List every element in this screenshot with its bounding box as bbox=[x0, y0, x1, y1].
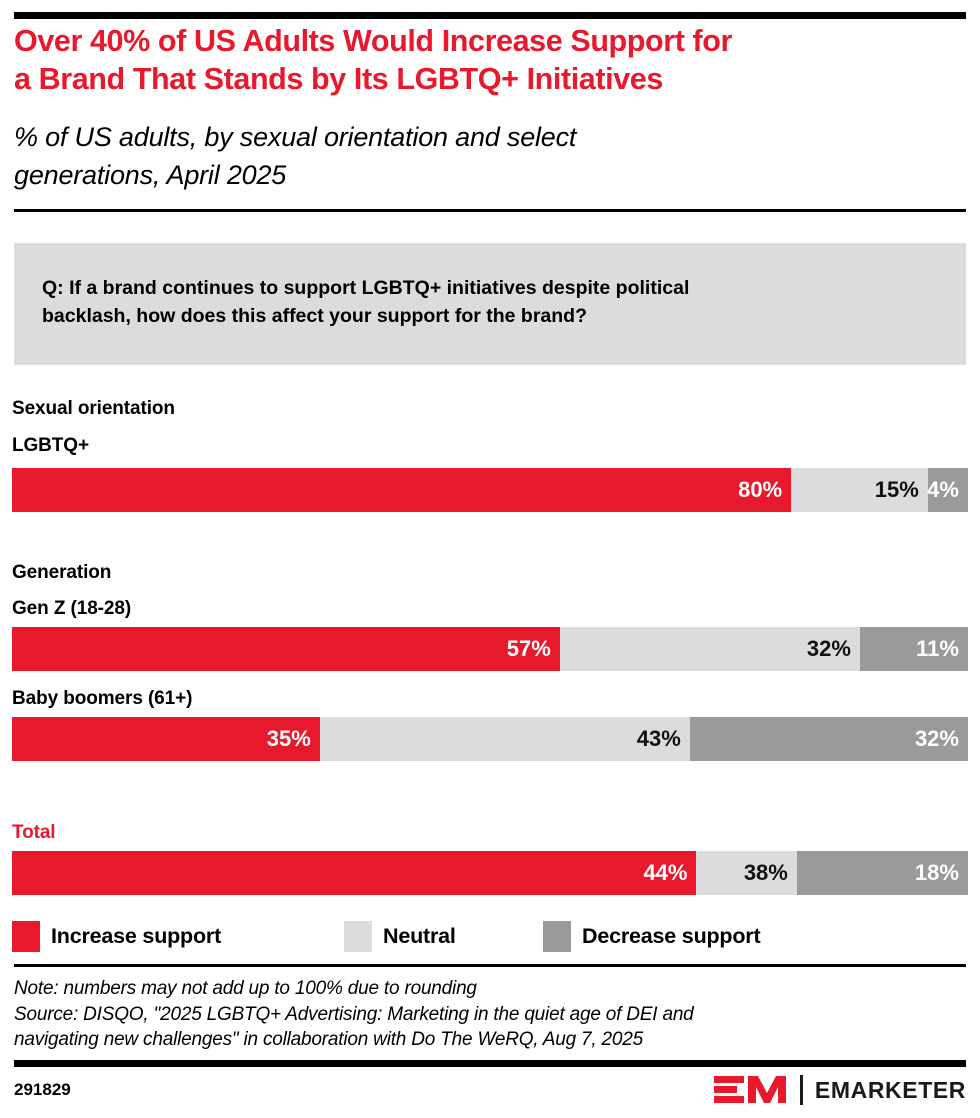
neutral-swatch-icon bbox=[344, 921, 372, 952]
bar-segment-neutral-baby-boomers: 43% bbox=[320, 717, 690, 761]
survey-question-line-1: Q: If a brand continues to support LGBTQ… bbox=[42, 277, 689, 299]
brand-name: EMARKETER bbox=[815, 1077, 966, 1104]
legend-divider bbox=[14, 964, 966, 967]
footnote-note: Note: numbers may not add up to 100% due… bbox=[14, 976, 954, 1002]
bar-segment-increase-lgbtq: 80% bbox=[12, 468, 791, 512]
legend-label-decrease-support: Decrease support bbox=[582, 924, 760, 949]
survey-question-text: Q: If a brand continues to support LGBTQ… bbox=[42, 274, 932, 330]
em-monogram-icon bbox=[714, 1074, 788, 1106]
bar-value-neutral-lgbtq: 15% bbox=[875, 479, 928, 501]
chart-page: Over 40% of US Adults Would Increase Sup… bbox=[0, 0, 980, 1118]
page-subtitle-line-2: generations, April 2025 bbox=[14, 156, 884, 194]
stacked-bar-total: 44% 38% 18% bbox=[12, 851, 968, 895]
bar-segment-decrease-lgbtq: 4% bbox=[928, 468, 968, 512]
bar-value-decrease-total: 18% bbox=[915, 862, 968, 884]
brand-divider bbox=[800, 1075, 803, 1105]
series-label-lgbtq: LGBTQ+ bbox=[12, 435, 89, 457]
bar-value-neutral-baby-boomers: 43% bbox=[637, 728, 690, 750]
page-title: Over 40% of US Adults Would Increase Sup… bbox=[14, 22, 972, 98]
bar-value-increase-baby-boomers: 35% bbox=[267, 728, 320, 750]
page-title-line-1: Over 40% of US Adults Would Increase Sup… bbox=[14, 24, 732, 58]
page-subtitle-line-1: % of US adults, by sexual orientation an… bbox=[14, 122, 576, 152]
bar-segment-increase-baby-boomers: 35% bbox=[12, 717, 320, 761]
bar-segment-neutral-gen-z: 32% bbox=[560, 627, 860, 671]
legend-label-neutral: Neutral bbox=[383, 924, 456, 949]
page-subtitle: % of US adults, by sexual orientation an… bbox=[14, 118, 884, 194]
bar-segment-increase-gen-z: 57% bbox=[12, 627, 560, 671]
survey-question-box: Q: If a brand continues to support LGBTQ… bbox=[14, 243, 966, 365]
bar-segment-increase-total: 44% bbox=[12, 851, 696, 895]
stacked-bar-lgbtq: 80% 15% 4% bbox=[12, 468, 968, 512]
bar-segment-decrease-total: 18% bbox=[797, 851, 968, 895]
bar-segment-neutral-lgbtq: 15% bbox=[791, 468, 928, 512]
stacked-bar-baby-boomers: 35% 43% 32% bbox=[12, 717, 968, 761]
bar-value-neutral-total: 38% bbox=[744, 862, 797, 884]
footnote-source-line-1: Source: DISQO, "2025 LGBTQ+ Advertising:… bbox=[14, 1002, 954, 1028]
chart-legend: Increase support Neutral Decrease suppor… bbox=[12, 918, 968, 954]
bar-value-increase-total: 44% bbox=[643, 862, 696, 884]
chart-id: 291829 bbox=[14, 1080, 71, 1100]
title-divider bbox=[14, 209, 966, 212]
bar-value-increase-gen-z: 57% bbox=[507, 638, 560, 660]
bar-value-neutral-gen-z: 32% bbox=[807, 638, 860, 660]
bar-value-decrease-gen-z: 11% bbox=[916, 638, 968, 660]
increase-support-swatch-icon bbox=[12, 921, 40, 952]
legend-item-decrease-support: Decrease support bbox=[543, 918, 760, 954]
chart-footnotes: Note: numbers may not add up to 100% due… bbox=[14, 976, 954, 1053]
survey-question-line-2: backlash, how does this affect your supp… bbox=[42, 302, 932, 330]
page-title-line-2: a Brand That Stands by Its LGBTQ+ Initia… bbox=[14, 60, 972, 98]
bar-value-increase-lgbtq: 80% bbox=[738, 479, 791, 501]
legend-label-increase-support: Increase support bbox=[51, 924, 221, 949]
group-heading-sexual-orientation: Sexual orientation bbox=[12, 398, 175, 420]
legend-item-increase-support: Increase support bbox=[12, 918, 221, 954]
decrease-support-swatch-icon bbox=[543, 921, 571, 952]
footnote-source-line-2: navigating new challenges" in collaborat… bbox=[14, 1027, 954, 1053]
footer-rule bbox=[14, 1060, 966, 1067]
series-label-baby-boomers: Baby boomers (61+) bbox=[12, 688, 192, 710]
stacked-bar-gen-z: 57% 32% 11% bbox=[12, 627, 968, 671]
header-rule bbox=[14, 12, 966, 19]
series-label-total: Total bbox=[12, 822, 55, 844]
legend-item-neutral: Neutral bbox=[344, 918, 456, 954]
bar-segment-decrease-baby-boomers: 32% bbox=[690, 717, 968, 761]
bar-value-decrease-baby-boomers: 32% bbox=[915, 728, 968, 750]
bar-value-decrease-lgbtq: 4% bbox=[927, 479, 968, 501]
series-label-gen-z: Gen Z (18-28) bbox=[12, 598, 131, 620]
bar-segment-neutral-total: 38% bbox=[696, 851, 796, 895]
group-heading-generation: Generation bbox=[12, 562, 111, 584]
brand-logo: EMARKETER bbox=[714, 1073, 966, 1107]
bar-segment-decrease-gen-z: 11% bbox=[860, 627, 968, 671]
